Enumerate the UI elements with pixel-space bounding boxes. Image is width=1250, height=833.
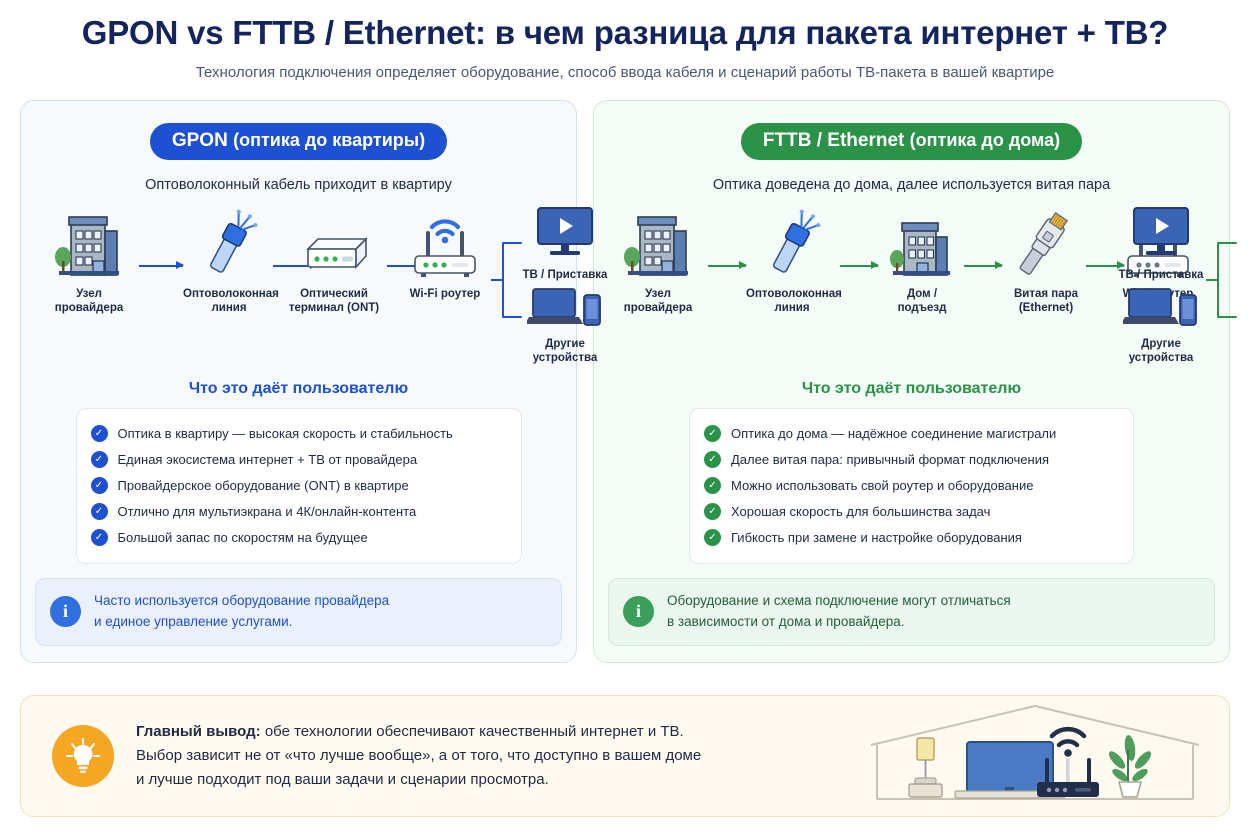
check-icon: ✓ bbox=[91, 451, 108, 468]
fttb-split-connector bbox=[1206, 233, 1242, 328]
gpon-node-provider-label: Узел провайдера bbox=[43, 287, 135, 316]
fttb-badge-rest: (оптика до дома) bbox=[910, 130, 1060, 150]
laptop-phone-icon bbox=[1115, 283, 1207, 331]
conclusion-line2: Выбор зависит не от «что лучше вообще», … bbox=[136, 744, 701, 768]
apartment-building-icon bbox=[876, 209, 968, 281]
fttb-node-house: Дом / подъезд bbox=[876, 209, 968, 316]
fttb-note: i Оборудование и схема подключение могут… bbox=[608, 578, 1215, 646]
benefit-text: Большой запас по скоростям на будущее bbox=[118, 530, 368, 545]
benefit-text: Оптика в квартиру — высокая скорость и с… bbox=[118, 426, 453, 441]
house-interior-icon bbox=[859, 700, 1211, 817]
fttb-node-fiber-label: Оптоволоконная линия bbox=[746, 287, 838, 316]
fttb-node-twisted-pair: Витая пара (Ethernet) bbox=[1000, 209, 1092, 316]
check-icon: ✓ bbox=[91, 503, 108, 520]
page-title: GPON vs FTTB / Ethernet: в чем разница д… bbox=[0, 14, 1250, 52]
fttb-subtitle: Оптика доведена до дома, далее используе… bbox=[608, 177, 1215, 193]
gpon-node-router: Wi-Fi роутер bbox=[395, 209, 495, 301]
benefit-text: Гибкость при замене и настройке оборудов… bbox=[731, 530, 1022, 545]
fttb-benefits-title: Что это даёт пользователю bbox=[608, 380, 1215, 398]
gpon-badge-strong: GPON bbox=[172, 130, 228, 151]
page-subtitle: Технология подключения определяет оборуд… bbox=[0, 64, 1250, 81]
ont-terminal-icon bbox=[279, 209, 389, 281]
list-item: ✓ Оптика до дома — надёжное соединение м… bbox=[704, 421, 1117, 447]
gpon-node-fiber: Оптоволоконная линия bbox=[183, 209, 275, 316]
benefit-text: Далее витая пара: привычный формат подкл… bbox=[731, 452, 1049, 467]
benefit-text: Можно использовать свой роутер и оборудо… bbox=[731, 478, 1033, 493]
check-icon: ✓ bbox=[704, 529, 721, 546]
rj45-cable-icon bbox=[1000, 209, 1092, 281]
laptop-phone-icon bbox=[519, 283, 611, 331]
gpon-endpoint-devices-label: Другие устройства bbox=[519, 337, 611, 366]
fttb-badge: FTTB / Ethernet (оптика до дома) bbox=[741, 123, 1082, 160]
gpon-note-text: Часто используется оборудование провайде… bbox=[94, 591, 389, 633]
gpon-flow-diagram: Узел провайдера bbox=[35, 209, 562, 374]
list-item: ✓ Провайдерское оборудование (ONT) в ква… bbox=[91, 473, 505, 499]
fttb-endpoint-devices: Другие устройства bbox=[1115, 283, 1207, 366]
fttb-node-provider-label: Узел провайдера bbox=[612, 287, 704, 316]
check-icon: ✓ bbox=[91, 529, 108, 546]
office-building-icon bbox=[612, 209, 704, 281]
gpon-endpoint-tv: ТВ / Приставка bbox=[519, 204, 611, 282]
fiber-optic-cable-icon bbox=[183, 209, 275, 281]
gpon-node-fiber-label: Оптоволоконная линия bbox=[183, 287, 275, 316]
tv-screen-icon bbox=[519, 204, 611, 262]
check-icon: ✓ bbox=[91, 477, 108, 494]
fttb-endpoint-devices-label: Другие устройства bbox=[1115, 337, 1207, 366]
fttb-arrow-1 bbox=[708, 265, 746, 267]
gpon-benefits-list: ✓ Оптика в квартиру — высокая скорость и… bbox=[76, 408, 522, 564]
fttb-benefits-list: ✓ Оптика до дома — надёжное соединение м… bbox=[689, 408, 1134, 564]
tv-screen-icon bbox=[1115, 204, 1207, 262]
fttb-arrow-3 bbox=[964, 265, 1002, 267]
list-item: ✓ Большой запас по скоростям на будущее bbox=[91, 525, 505, 551]
fttb-endpoint-tv-label: ТВ / Приставка bbox=[1115, 268, 1207, 282]
panel-gpon: GPON (оптика до квартиры) Оптоволоконный… bbox=[20, 100, 577, 663]
list-item: ✓ Гибкость при замене и настройке оборуд… bbox=[704, 525, 1117, 551]
fttb-note-text: Оборудование и схема подключение могут о… bbox=[667, 591, 1011, 633]
gpon-node-ont: Оптический терминал (ONT) bbox=[279, 209, 389, 316]
gpon-arrow-1 bbox=[139, 265, 183, 267]
fiber-optic-cable-icon bbox=[746, 209, 838, 281]
fttb-arrow-2 bbox=[840, 265, 878, 267]
gpon-node-ont-label: Оптический терминал (ONT) bbox=[279, 287, 389, 316]
gpon-note: i Часто используется оборудование провай… bbox=[35, 578, 562, 646]
lightbulb-icon bbox=[52, 725, 114, 787]
gpon-subtitle: Оптоволоконный кабель приходит в квартир… bbox=[35, 177, 562, 193]
fttb-node-fiber: Оптоволоконная линия bbox=[746, 209, 838, 316]
gpon-node-provider: Узел провайдера bbox=[43, 209, 135, 316]
list-item: ✓ Единая экосистема интернет + ТВ от про… bbox=[91, 447, 505, 473]
conclusion-banner: Главный вывод: обе технологии обеспечива… bbox=[20, 695, 1230, 817]
office-building-icon bbox=[43, 209, 135, 281]
benefit-text: Оптика до дома — надёжное соединение маг… bbox=[731, 426, 1056, 441]
conclusion-line3: и лучше подходит под ваши задачи и сцена… bbox=[136, 768, 701, 792]
list-item: ✓ Оптика в квартиру — высокая скорость и… bbox=[91, 421, 505, 447]
fttb-node-provider: Узел провайдера bbox=[612, 209, 704, 316]
check-icon: ✓ bbox=[704, 477, 721, 494]
gpon-badge-rest: (оптика до квартиры) bbox=[233, 130, 425, 150]
benefit-text: Единая экосистема интернет + ТВ от прова… bbox=[118, 452, 418, 467]
wifi-router-icon bbox=[395, 209, 495, 281]
info-icon: i bbox=[623, 596, 654, 627]
fttb-flow-diagram: Узел провайдера bbox=[608, 209, 1215, 374]
conclusion-lead: Главный вывод: bbox=[136, 723, 261, 740]
gpon-benefits-title: Что это даёт пользователю bbox=[35, 380, 562, 398]
benefit-text: Отлично для мультиэкрана и 4К/онлайн-кон… bbox=[118, 504, 417, 519]
infographic-page: GPON vs FTTB / Ethernet: в чем разница д… bbox=[0, 0, 1250, 833]
comparison-panels: GPON (оптика до квартиры) Оптоволоконный… bbox=[0, 81, 1250, 663]
list-item: ✓ Далее витая пара: привычный формат под… bbox=[704, 447, 1117, 473]
check-icon: ✓ bbox=[704, 451, 721, 468]
gpon-node-router-label: Wi-Fi роутер bbox=[395, 287, 495, 301]
benefit-text: Провайдерское оборудование (ONT) в кварт… bbox=[118, 478, 409, 493]
panel-fttb: FTTB / Ethernet (оптика до дома) Оптика … bbox=[593, 100, 1230, 663]
fttb-node-house-label: Дом / подъезд bbox=[876, 287, 968, 316]
conclusion-line1: обе технологии обеспечивают качественный… bbox=[261, 723, 684, 740]
info-icon: i bbox=[50, 596, 81, 627]
check-icon: ✓ bbox=[91, 425, 108, 442]
list-item: ✓ Можно использовать свой роутер и обору… bbox=[704, 473, 1117, 499]
gpon-badge: GPON (оптика до квартиры) bbox=[150, 123, 447, 160]
benefit-text: Хорошая скорость для большинства задач bbox=[731, 504, 990, 519]
header: GPON vs FTTB / Ethernet: в чем разница д… bbox=[0, 0, 1250, 81]
check-icon: ✓ bbox=[704, 425, 721, 442]
gpon-endpoint-devices: Другие устройства bbox=[519, 283, 611, 366]
list-item: ✓ Хорошая скорость для большинства задач bbox=[704, 499, 1117, 525]
fttb-node-twisted-pair-label: Витая пара (Ethernet) bbox=[1000, 287, 1092, 316]
check-icon: ✓ bbox=[704, 503, 721, 520]
fttb-badge-strong: FTTB / Ethernet bbox=[763, 130, 904, 151]
fttb-endpoint-tv: ТВ / Приставка bbox=[1115, 204, 1207, 282]
list-item: ✓ Отлично для мультиэкрана и 4К/онлайн-к… bbox=[91, 499, 505, 525]
gpon-endpoint-tv-label: ТВ / Приставка bbox=[519, 268, 611, 282]
conclusion-text: Главный вывод: обе технологии обеспечива… bbox=[136, 720, 701, 793]
